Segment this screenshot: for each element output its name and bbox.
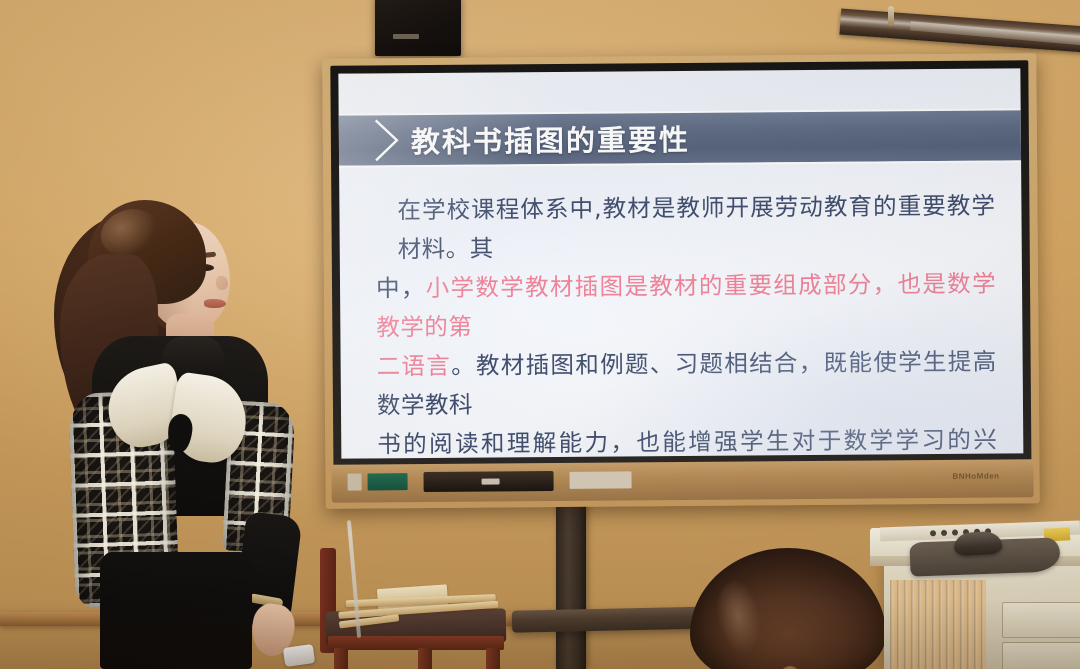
interactive-display[interactable]: 教科书插图的重要性 在学校课程体系中,教材是教师开展劳动教育的重要教学材料。其 …	[322, 53, 1040, 509]
display-brand-logo: BNHoMden	[952, 472, 999, 481]
presentation-slide: 教科书插图的重要性 在学校课程体系中,教材是教师开展劳动教育的重要教学材料。其 …	[338, 68, 1023, 458]
body-line-2-highlight: 小学数学教材插图是教材的重要组成部分，也是数学教学的第	[376, 270, 996, 342]
curtain-rail-hook	[888, 6, 894, 26]
presentation-clicker[interactable]	[283, 644, 315, 667]
display-screen[interactable]: 教科书插图的重要性 在学校课程体系中,教材是教师开展劳动教育的重要教学材料。其 …	[338, 68, 1023, 458]
speaker-brand-label	[393, 34, 419, 39]
ir-sensor-window	[482, 478, 500, 484]
slide-title: 教科书插图的重要性	[411, 117, 690, 161]
chair-apron	[328, 636, 504, 650]
bezel-sticker-label	[569, 471, 631, 488]
audience-member	[690, 548, 886, 669]
control-button[interactable]	[952, 529, 958, 535]
slide-title-banner: 教科书插图的重要性	[339, 108, 1021, 167]
control-button[interactable]	[930, 530, 936, 536]
presenter-lips	[204, 299, 226, 308]
wooden-chair	[318, 548, 518, 669]
banner-body: 教科书插图的重要性	[339, 110, 1021, 165]
body-line-3-highlight: 二语言	[377, 352, 452, 381]
control-button[interactable]	[941, 529, 947, 535]
presenter-skirt	[100, 552, 252, 669]
body-line-4: 书的阅读和理解能力，也能增强学生对于数学学习的兴趣。	[377, 426, 997, 459]
presenter	[44, 196, 312, 669]
display-bezel: 教科书插图的重要性 在学校课程体系中,教材是教师开展劳动教育的重要教学材料。其 …	[330, 60, 1031, 466]
chair-leg	[486, 648, 500, 669]
ceiling-speaker	[375, 0, 461, 56]
podium-drawer[interactable]	[1002, 602, 1080, 638]
body-line-3-rest: 。教材插图和例题、习题相结合，既能使学生提高数学教科	[377, 348, 997, 420]
body-line-1: 在学校课程体系中,教材是教师开展劳动教育的重要教学材料。其	[397, 192, 995, 264]
presentation-photo-scene: 教科书插图的重要性 在学校课程体系中,教材是教师开展劳动教育的重要教学材料。其 …	[0, 0, 1080, 669]
presenter-nose	[216, 276, 228, 290]
ir-sensor-bar	[423, 471, 553, 492]
display-stand-post	[556, 502, 586, 669]
podium-drawer[interactable]	[1002, 642, 1080, 669]
slide-body-text: 在学校课程体系中,教材是教师开展劳动教育的重要教学材料。其 中，小学数学教材插图…	[375, 187, 997, 459]
ruffled-collar	[106, 362, 256, 472]
computer-mouse[interactable]	[953, 531, 1002, 556]
bezel-sticker-white	[348, 474, 362, 491]
chair-leg	[334, 648, 348, 669]
podium-wood-panel	[890, 580, 986, 669]
bezel-sticker-green	[368, 473, 408, 490]
chair-leg	[418, 648, 432, 669]
body-line-2-prefix: 中，	[376, 274, 426, 302]
chevron-right-icon	[373, 117, 401, 163]
display-bottom-bezel: BNHoMden	[331, 459, 1033, 503]
